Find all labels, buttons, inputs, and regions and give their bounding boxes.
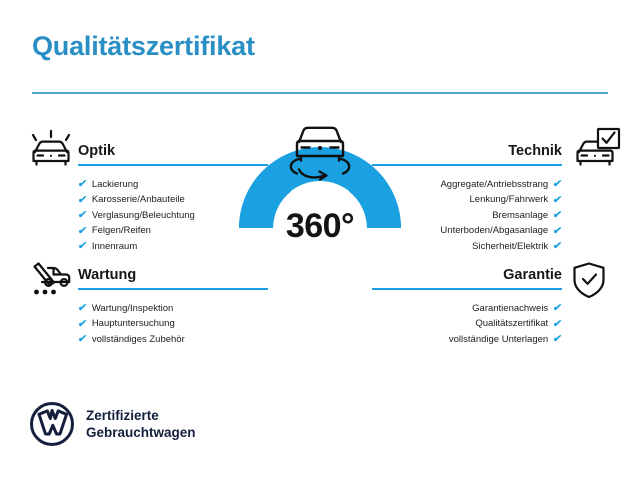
check-icon: ✔ [77, 210, 87, 221]
list-item-label: Felgen/Reifen [92, 223, 151, 239]
svg-text:Gebrauchtwagen-Check: Gebrauchtwagen-Check [255, 227, 386, 293]
list-item-label: Aggregate/Antriebsstrang [440, 177, 548, 193]
check-icon: ✔ [77, 241, 87, 252]
vw-logo [30, 402, 74, 446]
check-icon: ✔ [552, 303, 562, 314]
check-icon: ✔ [77, 303, 87, 314]
list-item-label: Qualitätszertifikat [475, 316, 548, 332]
check-icon: ✔ [77, 334, 87, 345]
car-checkbox-icon [568, 126, 622, 170]
check-icon: ✔ [552, 319, 562, 330]
list-item-label: vollständige Unterlagen [449, 332, 548, 348]
list-item-label: Unterboden/Abgasanlage [440, 223, 548, 239]
car-rotation-icon [275, 117, 365, 189]
vw-lockup-line2: Gebrauchtwagen [86, 424, 196, 441]
shield-check-icon [562, 258, 616, 302]
list-item: Qualitätszertifikat✔ [372, 316, 562, 332]
list-item-label: Wartung/Inspektion [92, 301, 174, 317]
check-icon: ✔ [77, 195, 87, 206]
list-item: vollständige Unterlagen✔ [372, 332, 562, 348]
check-icon: ✔ [552, 195, 562, 206]
list-item: ✔Hauptuntersuchung [78, 316, 268, 332]
page-title: Qualitätszertifikat [32, 31, 255, 62]
check-icon: ✔ [552, 210, 562, 221]
vw-lockup-line1: Zertifizierte [86, 407, 196, 424]
check-icon: ✔ [552, 334, 562, 345]
vw-lockup: Zertifizierte Gebrauchtwagen [30, 402, 196, 446]
list-item-label: Bremsanlage [492, 208, 548, 224]
title-divider [32, 92, 608, 94]
list-item: ✔vollständiges Zubehör [78, 332, 268, 348]
check-icon: ✔ [77, 319, 87, 330]
certificate-page: Qualitätszertifikat Optik ✔Lackierung ✔K… [0, 0, 640, 480]
list-item-label: vollständiges Zubehör [92, 332, 185, 348]
check-icon: ✔ [77, 226, 87, 237]
check-icon: ✔ [77, 179, 87, 190]
vw-lockup-text: Zertifizierte Gebrauchtwagen [86, 407, 196, 441]
list-item-label: Verglasung/Beleuchtung [92, 208, 195, 224]
list-item-label: Lackierung [92, 177, 138, 193]
list-item-label: Hauptuntersuchung [92, 316, 175, 332]
check-icon: ✔ [552, 241, 562, 252]
list-item-label: Innenraum [92, 239, 137, 255]
shiny-car-icon [24, 126, 78, 170]
list-item-label: Garantienachweis [472, 301, 548, 317]
list-item-label: Lenkung/Fahrwerk [470, 192, 549, 208]
check-icon: ✔ [552, 179, 562, 190]
list-item-label: Sicherheit/Elektrik [472, 239, 548, 255]
list-item-label: Karosserie/Anbauteile [92, 192, 185, 208]
check-icon: ✔ [552, 226, 562, 237]
badge-curved-label: Gebrauchtwagen-Check [255, 227, 386, 293]
car-on-lift-icon [24, 256, 78, 300]
